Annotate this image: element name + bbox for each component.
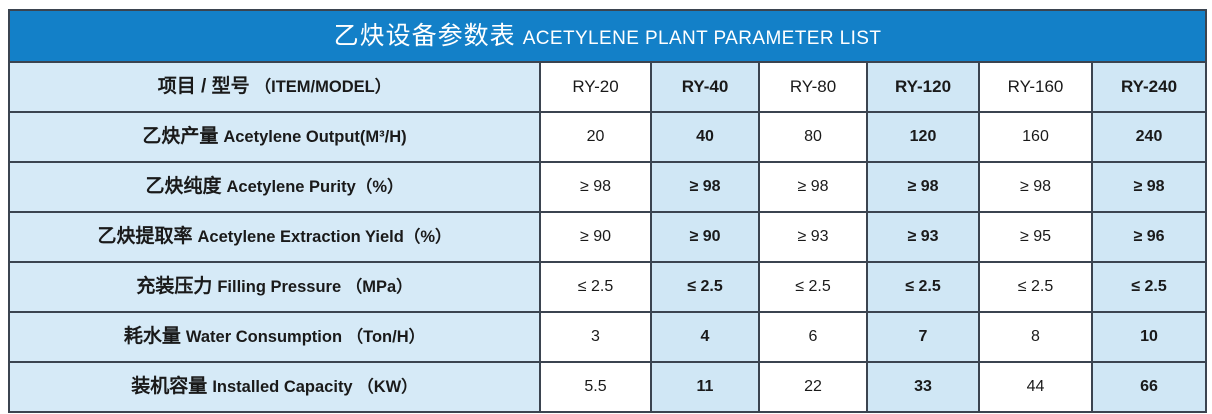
cell-extraction-yield-ry-120: ≥ 93 bbox=[867, 212, 979, 262]
table-row: 乙炔产量 Acetylene Output(M³/H) 20 40 80 120… bbox=[9, 112, 1206, 162]
row-label-chinese: 乙炔提取率 bbox=[97, 226, 192, 248]
cell-water-consumption-ry-160: 8 bbox=[979, 312, 1092, 362]
cell-installed-capacity-ry-160: 44 bbox=[979, 362, 1092, 412]
cell-installed-capacity-ry-40: 11 bbox=[651, 362, 759, 412]
row-header-label-cell: 项目 / 型号 （ITEM/MODEL） bbox=[9, 62, 540, 112]
row-label-installed-capacity: 装机容量 Installed Capacity （KW） bbox=[9, 362, 540, 412]
cell-filling-pressure-ry-240: ≤ 2.5 bbox=[1092, 262, 1206, 312]
cell-acetylene-purity-ry-80: ≥ 98 bbox=[759, 162, 867, 212]
cell-water-consumption-ry-240: 10 bbox=[1092, 312, 1206, 362]
table-title-cell: 乙炔设备参数表 ACETYLENE PLANT PARAMETER LIST bbox=[9, 10, 1206, 62]
row-label-filling-pressure: 充装压力 Filling Pressure （MPa） bbox=[9, 262, 540, 312]
title-chinese: 乙炔设备参数表 bbox=[334, 22, 516, 51]
column-header-ry-80: RY-80 bbox=[759, 62, 867, 112]
cell-water-consumption-ry-120: 7 bbox=[867, 312, 979, 362]
row-label-extraction-yield: 乙炔提取率 Acetylene Extraction Yield（%） bbox=[9, 212, 540, 262]
parameter-table-container: 乙炔设备参数表 ACETYLENE PLANT PARAMETER LIST 项… bbox=[8, 9, 1205, 405]
table-row: 乙炔纯度 Acetylene Purity（%） ≥ 98 ≥ 98 ≥ 98 … bbox=[9, 162, 1206, 212]
cell-filling-pressure-ry-20: ≤ 2.5 bbox=[540, 262, 651, 312]
cell-acetylene-purity-ry-160: ≥ 98 bbox=[979, 162, 1092, 212]
row-label-acetylene-output: 乙炔产量 Acetylene Output(M³/H) bbox=[9, 112, 540, 162]
cell-acetylene-output-ry-80: 80 bbox=[759, 112, 867, 162]
table-row: 装机容量 Installed Capacity （KW） 5.5 11 22 3… bbox=[9, 362, 1206, 412]
cell-extraction-yield-ry-160: ≥ 95 bbox=[979, 212, 1092, 262]
cell-acetylene-output-ry-240: 240 bbox=[1092, 112, 1206, 162]
column-header-ry-240: RY-240 bbox=[1092, 62, 1206, 112]
acetylene-parameter-table: 乙炔设备参数表 ACETYLENE PLANT PARAMETER LIST 项… bbox=[8, 9, 1207, 413]
cell-water-consumption-ry-80: 6 bbox=[759, 312, 867, 362]
cell-extraction-yield-ry-20: ≥ 90 bbox=[540, 212, 651, 262]
cell-extraction-yield-ry-40: ≥ 90 bbox=[651, 212, 759, 262]
row-label-chinese: 装机容量 bbox=[131, 376, 207, 398]
column-header-ry-20: RY-20 bbox=[540, 62, 651, 112]
row-header-chinese: 项目 / 型号 bbox=[158, 76, 250, 98]
row-label-chinese: 乙炔纯度 bbox=[146, 176, 222, 198]
cell-filling-pressure-ry-120: ≤ 2.5 bbox=[867, 262, 979, 312]
cell-water-consumption-ry-20: 3 bbox=[540, 312, 651, 362]
row-label-chinese: 充装压力 bbox=[136, 276, 212, 298]
table-row: 耗水量 Water Consumption （Ton/H） 3 4 6 7 8 … bbox=[9, 312, 1206, 362]
row-label-chinese: 乙炔产量 bbox=[142, 126, 218, 148]
column-header-row: 项目 / 型号 （ITEM/MODEL） RY-20 RY-40 RY-80 R… bbox=[9, 62, 1206, 112]
cell-acetylene-output-ry-120: 120 bbox=[867, 112, 979, 162]
cell-water-consumption-ry-40: 4 bbox=[651, 312, 759, 362]
row-label-chinese: 耗水量 bbox=[124, 326, 181, 348]
cell-installed-capacity-ry-20: 5.5 bbox=[540, 362, 651, 412]
cell-acetylene-purity-ry-120: ≥ 98 bbox=[867, 162, 979, 212]
row-label-acetylene-purity: 乙炔纯度 Acetylene Purity（%） bbox=[9, 162, 540, 212]
title-english: ACETYLENE PLANT PARAMETER LIST bbox=[523, 28, 882, 50]
cell-acetylene-purity-ry-20: ≥ 98 bbox=[540, 162, 651, 212]
cell-extraction-yield-ry-80: ≥ 93 bbox=[759, 212, 867, 262]
column-header-ry-40: RY-40 bbox=[651, 62, 759, 112]
table-title-row: 乙炔设备参数表 ACETYLENE PLANT PARAMETER LIST bbox=[9, 10, 1206, 62]
row-header-english: （ITEM/MODEL） bbox=[255, 78, 392, 97]
column-header-ry-160: RY-160 bbox=[979, 62, 1092, 112]
cell-acetylene-purity-ry-40: ≥ 98 bbox=[651, 162, 759, 212]
cell-extraction-yield-ry-240: ≥ 96 bbox=[1092, 212, 1206, 262]
cell-installed-capacity-ry-80: 22 bbox=[759, 362, 867, 412]
cell-filling-pressure-ry-40: ≤ 2.5 bbox=[651, 262, 759, 312]
column-header-ry-120: RY-120 bbox=[867, 62, 979, 112]
row-label-english: Filling Pressure （MPa） bbox=[217, 278, 412, 297]
cell-installed-capacity-ry-120: 33 bbox=[867, 362, 979, 412]
cell-filling-pressure-ry-160: ≤ 2.5 bbox=[979, 262, 1092, 312]
cell-filling-pressure-ry-80: ≤ 2.5 bbox=[759, 262, 867, 312]
row-label-english: Water Consumption （Ton/H） bbox=[186, 328, 425, 347]
cell-acetylene-purity-ry-240: ≥ 98 bbox=[1092, 162, 1206, 212]
row-label-english: Installed Capacity （KW） bbox=[212, 378, 417, 397]
row-label-english: Acetylene Extraction Yield（%） bbox=[198, 228, 452, 247]
cell-acetylene-output-ry-40: 40 bbox=[651, 112, 759, 162]
cell-acetylene-output-ry-160: 160 bbox=[979, 112, 1092, 162]
table-row: 乙炔提取率 Acetylene Extraction Yield（%） ≥ 90… bbox=[9, 212, 1206, 262]
table-row: 充装压力 Filling Pressure （MPa） ≤ 2.5 ≤ 2.5 … bbox=[9, 262, 1206, 312]
row-label-english: Acetylene Purity（%） bbox=[227, 178, 404, 197]
cell-installed-capacity-ry-240: 66 bbox=[1092, 362, 1206, 412]
row-label-english: Acetylene Output(M³/H) bbox=[223, 128, 406, 147]
table-body: 乙炔设备参数表 ACETYLENE PLANT PARAMETER LIST 项… bbox=[9, 10, 1206, 412]
row-label-water-consumption: 耗水量 Water Consumption （Ton/H） bbox=[9, 312, 540, 362]
cell-acetylene-output-ry-20: 20 bbox=[540, 112, 651, 162]
